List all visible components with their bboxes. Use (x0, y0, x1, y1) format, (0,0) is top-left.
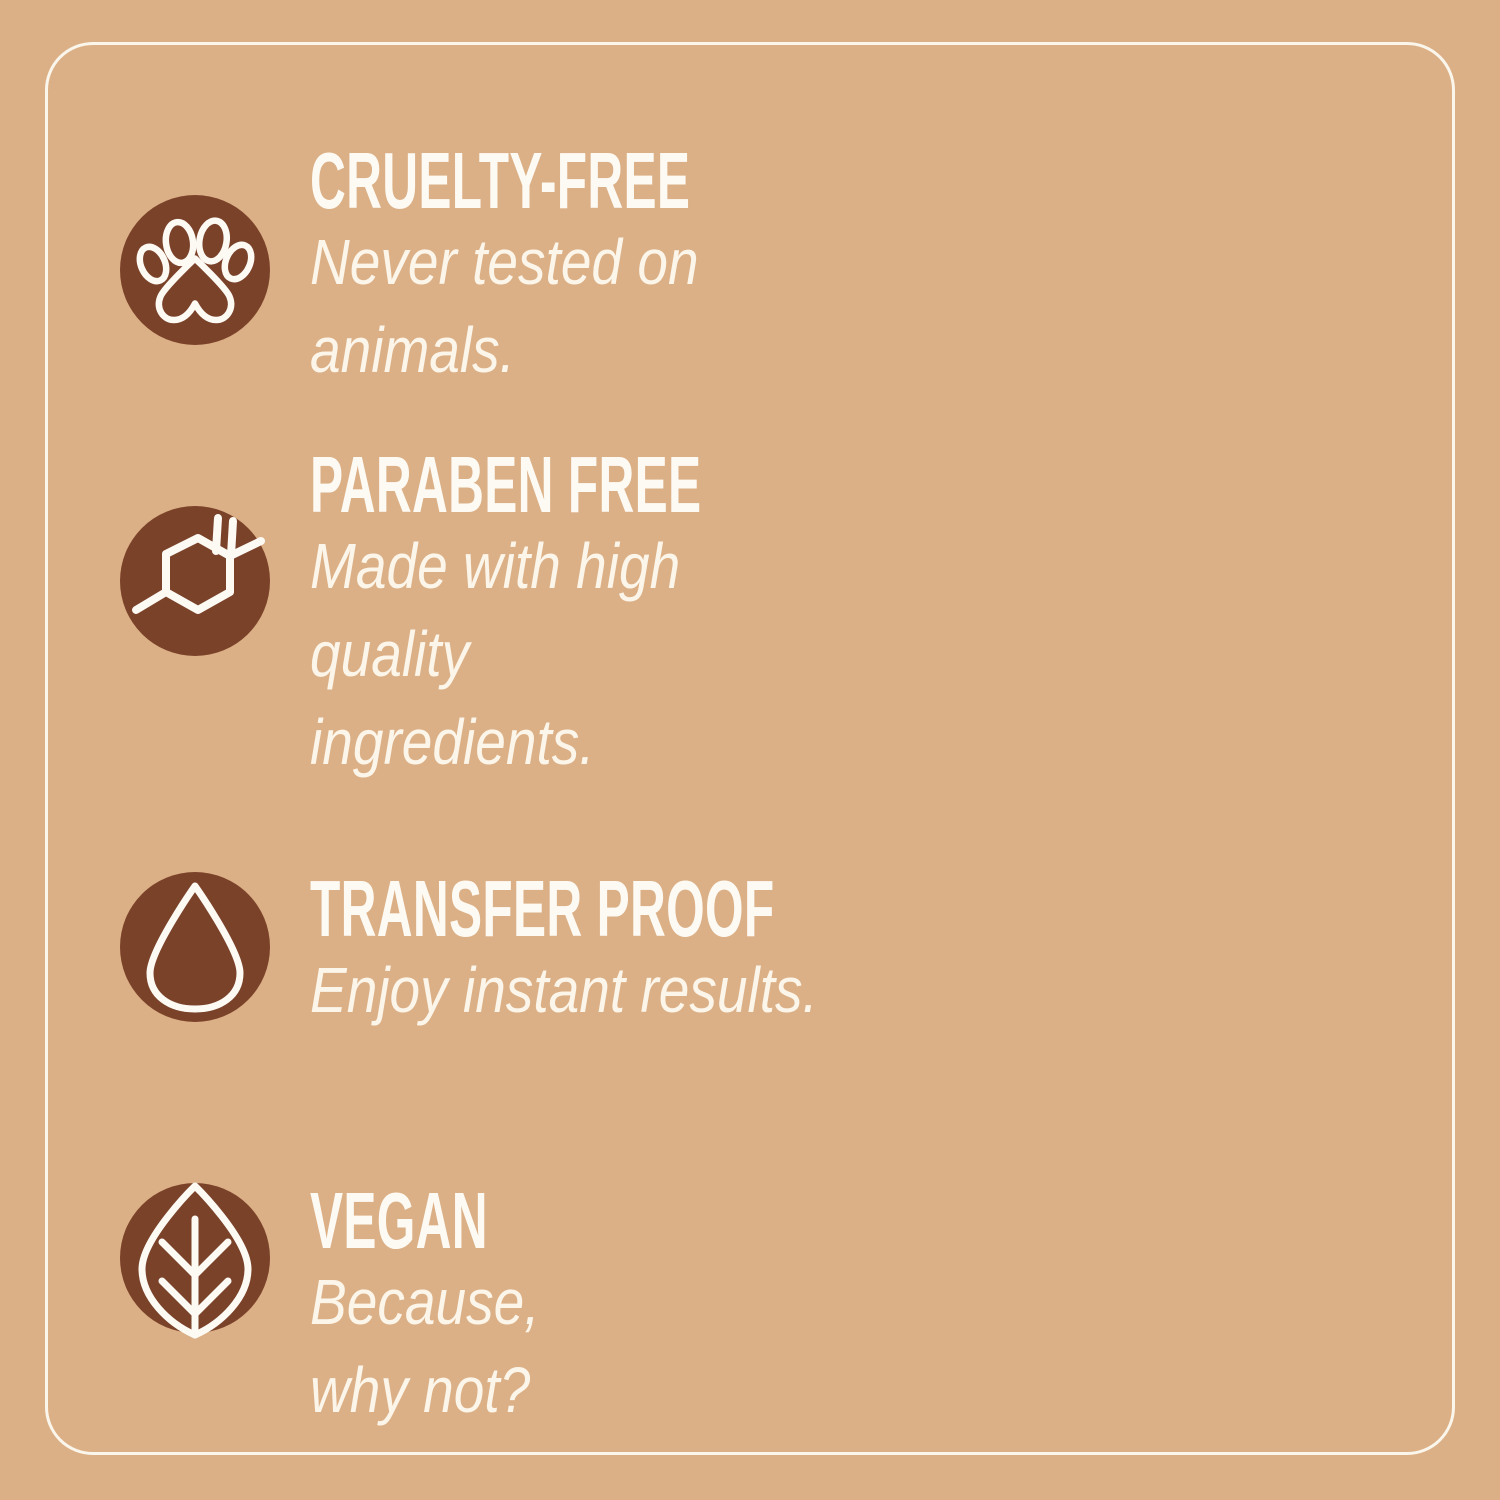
icon-badge (120, 1183, 270, 1333)
water-droplet-icon (120, 872, 270, 1022)
molecule-icon (120, 506, 270, 656)
product-benefits-panel: CRUELTY-FREE Never tested on animals. PA… (0, 0, 1500, 1500)
feature-title: VEGAN (310, 1184, 488, 1258)
feature-text-block: PARABEN FREE Made with high quality ingr… (310, 448, 941, 787)
feature-description: Made with high quality ingredients. (310, 522, 853, 787)
leaf-icon (120, 1183, 270, 1333)
icon-badge (120, 872, 270, 1022)
feature-description: Enjoy instant results. (310, 946, 954, 1034)
feature-text-block: TRANSFER PROOF Enjoy instant results. (310, 872, 1059, 1034)
paw-print-icon (120, 195, 270, 345)
feature-title: TRANSFER PROOF (310, 872, 775, 946)
feature-title: CRUELTY-FREE (310, 144, 690, 218)
icon-badge (120, 506, 270, 656)
icon-badge (120, 195, 270, 345)
feature-description: Because, why not? (310, 1258, 557, 1435)
feature-text-block: VEGAN Because, why not? (310, 1184, 597, 1434)
feature-title: PARABEN FREE (310, 448, 701, 522)
feature-text-block: CRUELTY-FREE Never tested on animals. (310, 144, 923, 394)
feature-description: Never tested on animals. (310, 218, 838, 395)
